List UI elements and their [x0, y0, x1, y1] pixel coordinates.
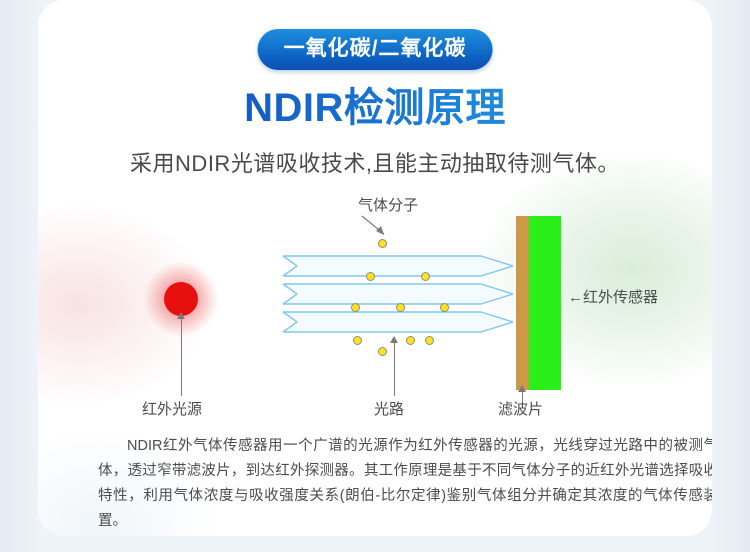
description-paragraph: NDIR红外气体传感器用一个广谱的光源作为红外传感器的光源，光线穿过光路中的被测…: [98, 434, 712, 534]
light-path-pointer-line: [394, 342, 395, 396]
label-ir-sensor: ←红外传感器: [568, 286, 658, 307]
label-light-path: 光路: [374, 398, 404, 419]
gas-molecule: [396, 303, 405, 312]
gas-molecule: [421, 272, 430, 281]
gas-molecule: [440, 303, 449, 312]
filter-pointer-arrowhead: [518, 385, 526, 392]
label-filter: 滤波片: [498, 398, 543, 419]
page-background: 一氧化碳/二氧化碳 NDIR检测原理 采用NDIR光谱吸收技术,且能主动抽取待测…: [0, 0, 750, 552]
gas-molecule: [351, 303, 360, 312]
gas-molecule: [425, 336, 434, 345]
ir-source-icon: [164, 282, 198, 316]
optical-filter-element: [516, 216, 529, 390]
ir-source-pointer-arrowhead: [177, 312, 185, 319]
label-gas-molecule: 气体分子: [358, 194, 418, 215]
gas-molecule: [366, 272, 375, 281]
ir-sensor-element: [529, 216, 561, 390]
page-title: NDIR检测原理: [38, 84, 712, 132]
ndir-principle-diagram: 气体分子 ←红外传感器 红外光源 光路 滤波片: [38, 190, 712, 430]
gas-molecule: [378, 239, 387, 248]
light-beam-arrow: [283, 255, 513, 277]
gas-molecule: [378, 347, 387, 356]
gas-molecule: [353, 336, 362, 345]
gas-molecule-pointer: [360, 214, 394, 240]
content-card: 一氧化碳/二氧化碳 NDIR检测原理 采用NDIR光谱吸收技术,且能主动抽取待测…: [38, 0, 712, 536]
light-path-pointer-arrowhead: [390, 336, 398, 343]
gas-molecule: [406, 336, 415, 345]
category-badge: 一氧化碳/二氧化碳: [258, 29, 493, 70]
ir-source-pointer-line: [181, 318, 182, 396]
light-beam-arrow: [283, 311, 513, 333]
label-ir-source: 红外光源: [142, 398, 202, 419]
light-beam-arrow: [283, 283, 513, 305]
page-subtitle: 采用NDIR光谱吸收技术,且能主动抽取待测气体。: [38, 146, 712, 178]
